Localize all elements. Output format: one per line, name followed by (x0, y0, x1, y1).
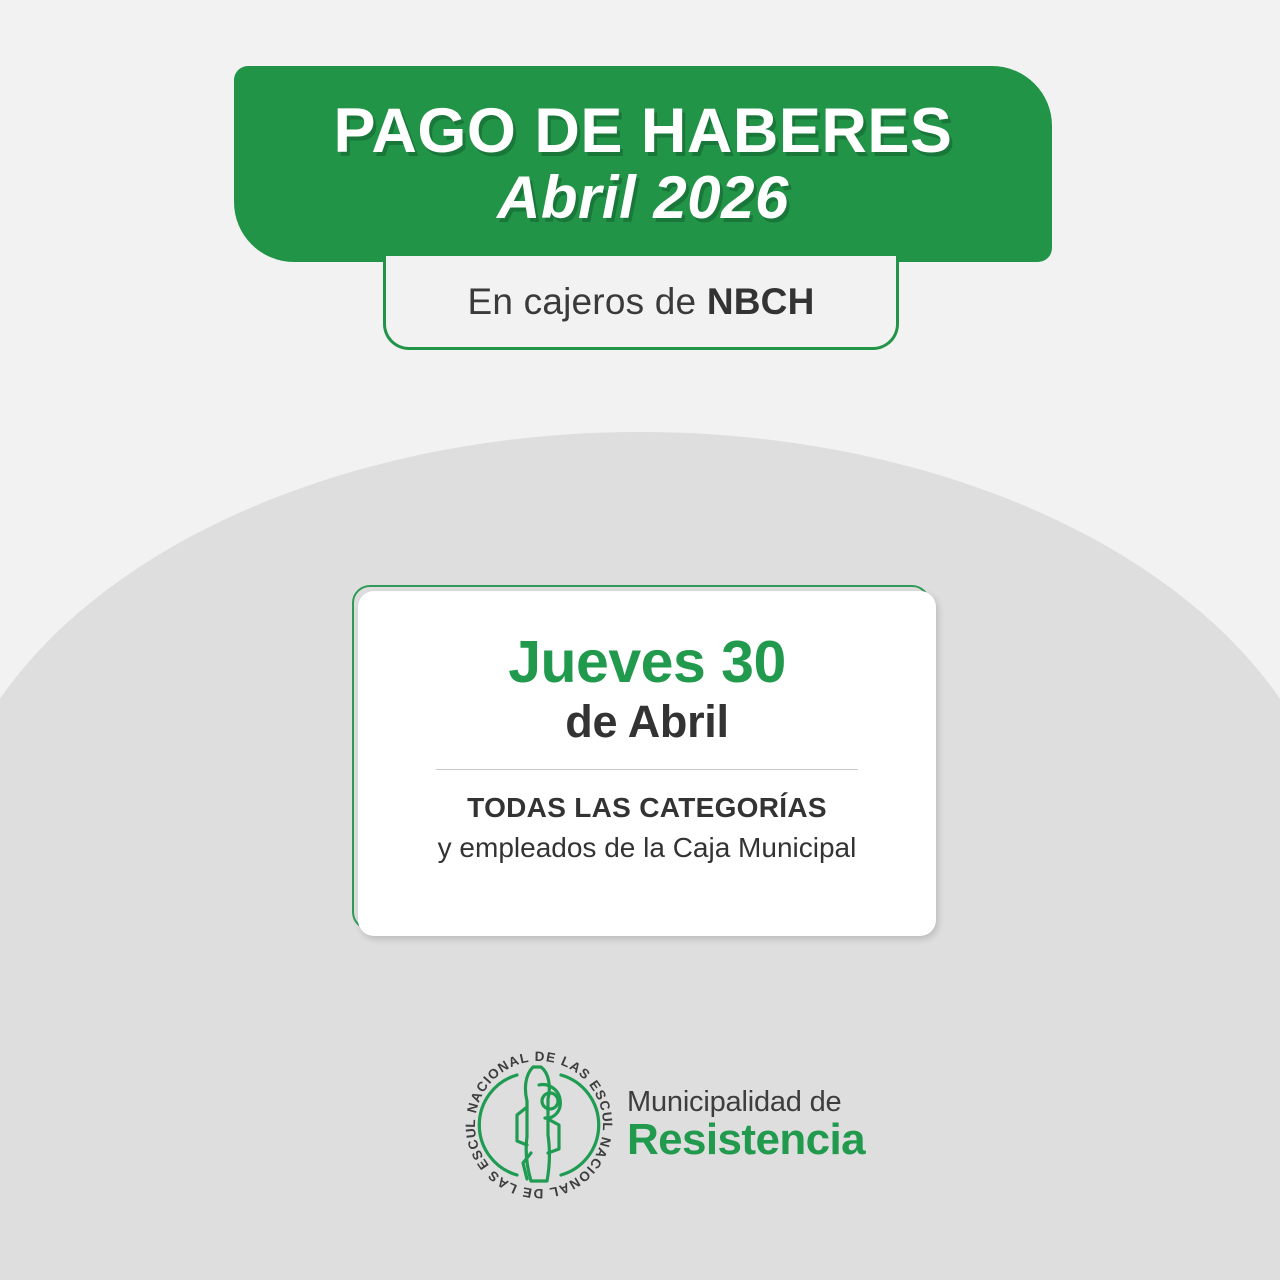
logo-line-municipalidad: Municipalidad de (627, 1087, 865, 1118)
logo-line-resistencia: Resistencia (627, 1117, 865, 1163)
payment-date-card: Jueves 30 de Abril TODAS LAS CATEGORÍAS … (358, 591, 936, 936)
municipality-logo: CAPITAL NACIONAL DE LAS ESCULTURAS CAPIT… (455, 1040, 835, 1210)
header-banner: PAGO DE HABERES Abril 2026 (234, 66, 1052, 262)
payment-date-card-wrapper: Jueves 30 de Abril TODAS LAS CATEGORÍAS … (352, 585, 930, 930)
payment-channel-text: En cajeros de NBCH (467, 281, 814, 323)
payment-channel-bank: NBCH (707, 281, 815, 322)
payment-categories: TODAS LAS CATEGORÍAS (467, 792, 827, 824)
page-subtitle-period: Abril 2026 (497, 166, 789, 229)
payment-channel-box: En cajeros de NBCH (383, 256, 899, 350)
logo-wordmark: Municipalidad de Resistencia (627, 1087, 865, 1163)
payment-channel-prefix: En cajeros de (467, 281, 706, 322)
page-title: PAGO DE HABERES (334, 99, 953, 163)
payment-day: Jueves 30 (508, 633, 786, 692)
sculpture-emblem-icon: CAPITAL NACIONAL DE LAS ESCULTURAS CAPIT… (455, 1041, 623, 1209)
payment-note: y empleados de la Caja Municipal (438, 832, 857, 864)
poster-canvas: PAGO DE HABERES Abril 2026 En cajeros de… (0, 0, 1280, 1280)
card-divider (436, 769, 858, 770)
payment-month: de Abril (565, 698, 728, 745)
